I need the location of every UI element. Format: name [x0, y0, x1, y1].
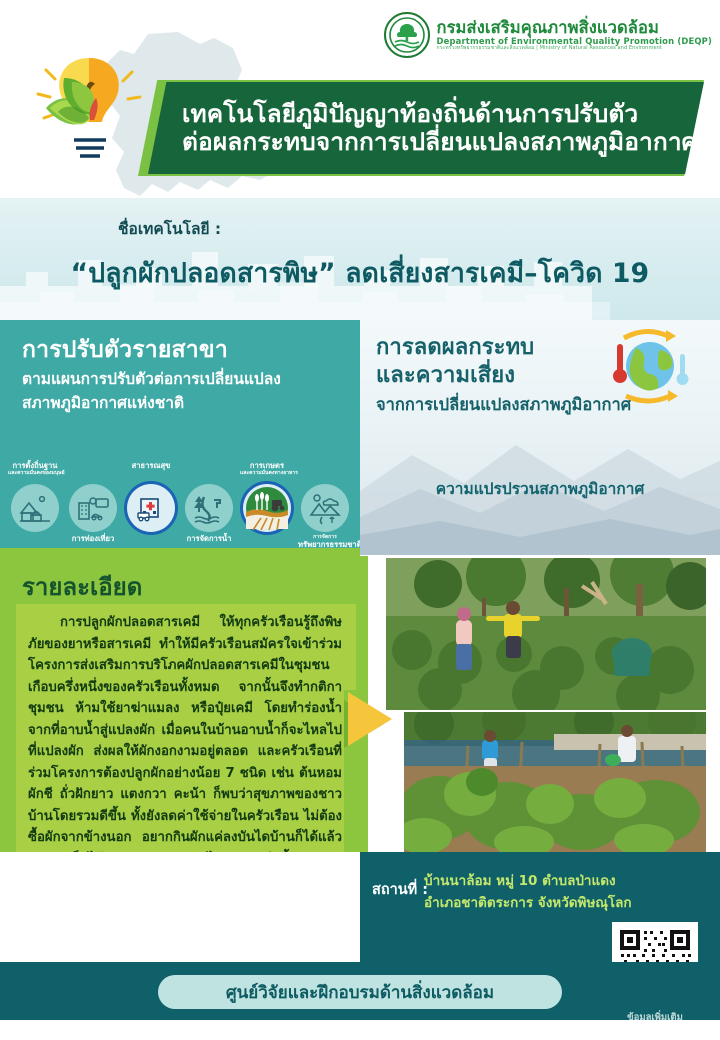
sector-label-public-health: สาธารณสุข: [124, 461, 178, 470]
globe-thermometer-icon: [596, 328, 692, 404]
technology-label: ชื่อเทคโนโลยี :: [118, 216, 221, 241]
tourism-icon: [69, 484, 117, 532]
settlement-icon: [11, 484, 59, 532]
location-line-1: บ้านนาล้อม หมู่ 10 ตำบลป่าแดง: [424, 869, 616, 891]
sector-label-tourism: การท่องเที่ยว: [66, 534, 120, 543]
footer-white-strip: [0, 1020, 720, 1040]
location-label: สถานที่ :: [372, 878, 428, 901]
photo-vegetable-plots-with-netting: [404, 712, 706, 852]
adaptation-heading: การปรับตัวรายสาขา: [22, 332, 228, 368]
footer-text: ศูนย์วิจัยและฝึกอบรมด้านสิ่งแวดล้อม: [226, 979, 494, 1006]
sector-icon-strip: การตั้งถิ่นฐาน และความมั่นคงของมนุษย์: [0, 450, 360, 555]
sector-label-natural-resources: การจัดการ ทรัพยากรธรรมชาติ: [298, 534, 352, 549]
sector-item-water-management[interactable]: การจัดการน้ำ: [182, 484, 236, 532]
detail-title: รายละเอียด: [22, 567, 142, 606]
sector-item-public-health[interactable]: สาธารณสุข: [124, 484, 178, 532]
deqp-seal-icon: [384, 12, 430, 58]
sector-item-natural-resources[interactable]: การจัดการ ทรัพยากรธรรมชาติ: [298, 484, 352, 532]
location-bar-left-fill: [0, 852, 360, 964]
sector-item-settlement[interactable]: การตั้งถิ่นฐาน และความมั่นคงของมนุษย์: [8, 484, 62, 532]
mitigation-heading-line1: การลดผลกระทบ: [376, 334, 534, 362]
technology-name: “ปลูกผักปลอดสารพิษ” ลดเสี่ยงสารเคมี–โควิ…: [0, 252, 720, 294]
title-line-1: เทคโนโลยีภูมิปัญญาท้องถิ่นด้านการปรับตัว: [182, 100, 678, 128]
mitigation-subheading: จากการเปลี่ยนแปลงสภาพภูมิอากาศ: [376, 392, 631, 418]
org-name-th: กรมส่งเสริมคุณภาพสิ่งแวดล้อม: [437, 19, 713, 37]
sector-label-water-management: การจัดการน้ำ: [182, 534, 236, 543]
org-ministry: กระทรวงทรัพยากรธรรมชาติและสิ่งแวดล้อม | …: [437, 46, 713, 52]
sector-label-settlement: การตั้งถิ่นฐาน และความมั่นคงของมนุษย์: [8, 461, 62, 476]
natural-resources-icon: [301, 484, 349, 532]
public-health-icon: [127, 484, 175, 532]
mitigation-heading-line2: และความเสี่ยง: [376, 362, 534, 390]
agriculture-icon: [243, 484, 291, 532]
mitigation-caption: ความแปรปรวนสภาพภูมิอากาศ: [360, 476, 720, 501]
footer-pill: ศูนย์วิจัยและฝึกอบรมด้านสิ่งแวดล้อม: [158, 975, 562, 1009]
header-band: กรมส่งเสริมคุณภาพสิ่งแวดล้อม Department …: [0, 0, 720, 200]
sector-item-tourism[interactable]: การท่องเที่ยว: [66, 484, 120, 532]
sector-label-agriculture: การเกษตร และความมั่นคงทางอาหาร: [240, 461, 294, 476]
adaptation-subheading: ตามแผนการปรับตัวต่อการเปลี่ยนแปลง สภาพภู…: [22, 368, 347, 415]
location-line-2: อำเภอชาติตระการ จังหวัดพิษณุโลก: [424, 891, 632, 913]
poster-root: กรมส่งเสริมคุณภาพสิ่งแวดล้อม Department …: [0, 0, 720, 1040]
title-line-2: ต่อผลกระทบจากการเปลี่ยนแปลงสภาพภูมิอากาศ: [182, 128, 678, 156]
photo-villagers-vegetable-garden: [386, 558, 706, 710]
adaptation-subheading-line2: สภาพภูมิอากาศแห่งชาติ: [22, 392, 347, 416]
panel-divider: [0, 548, 360, 556]
deqp-logo: กรมส่งเสริมคุณภาพสิ่งแวดล้อม Department …: [384, 12, 713, 58]
poster-title: เทคโนโลยีภูมิปัญญาท้องถิ่นด้านการปรับตัว…: [148, 82, 704, 174]
adaptation-subheading-line1: ตามแผนการปรับตัวต่อการเปลี่ยนแปลง: [22, 368, 347, 392]
mitigation-heading: การลดผลกระทบ และความเสี่ยง: [376, 334, 534, 389]
lightbulb-leaf-pin-icon: [24, 52, 154, 200]
water-management-icon: [185, 484, 233, 532]
sector-item-agriculture[interactable]: การเกษตร และความมั่นคงทางอาหาร: [240, 484, 294, 532]
